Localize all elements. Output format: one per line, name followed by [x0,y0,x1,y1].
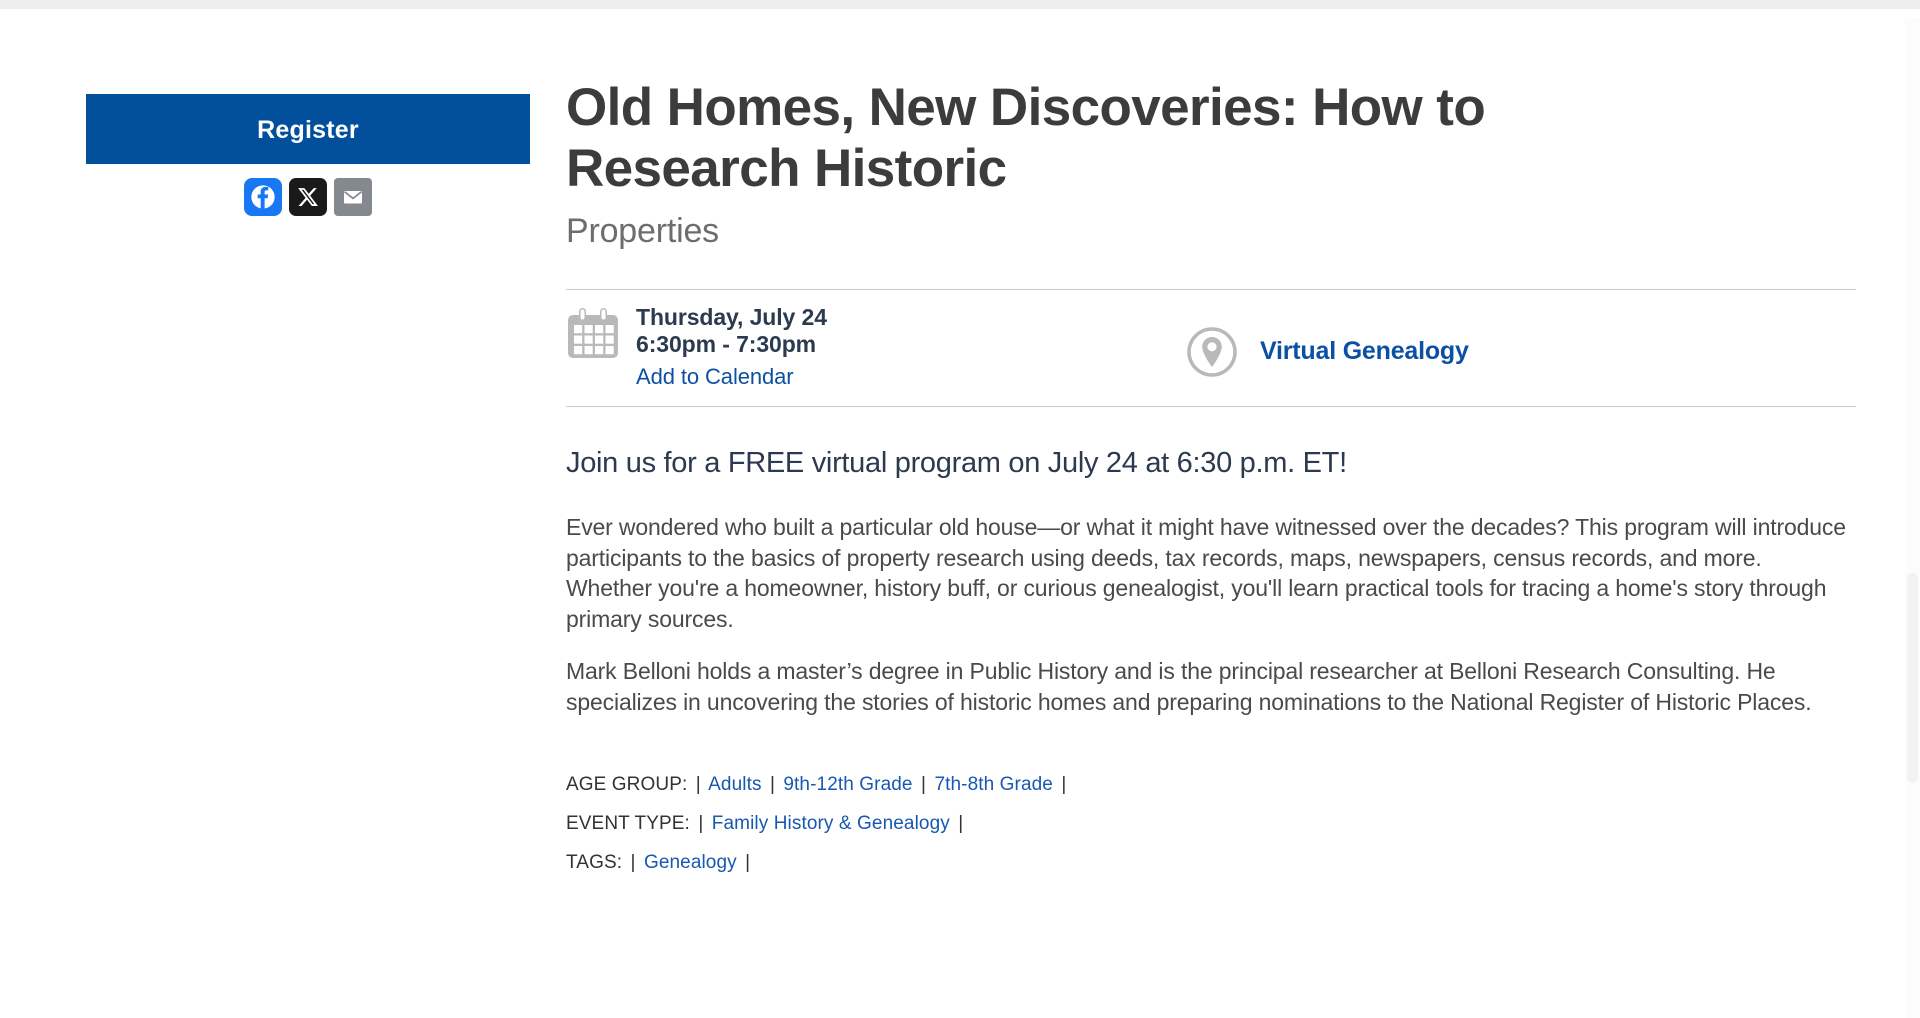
facebook-share-icon[interactable] [244,178,282,216]
share-row [86,178,530,216]
event-paragraph: Ever wondered who built a particular old… [566,512,1851,634]
event-date: Thursday, July 24 [636,304,827,331]
page-subtitle: Properties [566,212,1856,251]
meta-separator: | [1058,774,1069,795]
meta-separator: | [767,774,778,795]
x-share-icon[interactable] [289,178,327,216]
meta-row-age-group: AGE GROUP: | Adults | 9th-12th Grade | 7… [566,775,1856,794]
event-lead-text: Join us for a FREE virtual program on Ju… [566,447,1856,480]
meta-separator: | [628,852,639,873]
event-page: Register Old Homes, [0,9,1920,1009]
meta-label: EVENT TYPE: [566,813,690,834]
event-metadata: AGE GROUP: | Adults | 9th-12th Grade | 7… [566,775,1856,872]
add-to-calendar-link[interactable]: Add to Calendar [636,364,794,390]
event-paragraph: Mark Belloni holds a master’s degree in … [566,656,1851,717]
email-share-icon[interactable] [334,178,372,216]
meta-separator: | [742,852,753,873]
sidebar: Register [86,94,530,216]
event-time: 6:30pm - 7:30pm [636,331,827,358]
map-pin-icon [1186,326,1246,378]
top-chrome-strip [0,0,1920,9]
meta-link-7th-8th-grade[interactable]: 7th-8th Grade [934,774,1053,795]
event-date-text: Thursday, July 24 6:30pm - 7:30pm Add to… [626,304,827,390]
main-content: Old Homes, New Discoveries: How to Resea… [566,9,1856,892]
page-title: Old Homes, New Discoveries: How to Resea… [566,9,1636,200]
meta-link-9th-12th-grade[interactable]: 9th-12th Grade [783,774,912,795]
event-location-link[interactable]: Virtual Genealogy [1246,337,1469,366]
meta-label: TAGS: [566,852,622,873]
meta-label: AGE GROUP: [566,774,687,795]
meta-row-event-type: EVENT TYPE: | Family History & Genealogy… [566,814,1856,833]
meta-link-family-history-genealogy[interactable]: Family History & Genealogy [712,813,950,834]
meta-separator: | [693,774,704,795]
meta-link-adults[interactable]: Adults [708,774,761,795]
meta-separator: | [955,813,966,834]
register-button[interactable]: Register [86,94,530,164]
meta-link-genealogy[interactable]: Genealogy [644,852,737,873]
calendar-icon [566,304,626,360]
meta-separator: | [695,813,706,834]
page-scrollbar[interactable] [1905,18,1920,1018]
event-location-block: Virtual Genealogy [1186,304,1469,378]
event-details-bar: Thursday, July 24 6:30pm - 7:30pm Add to… [566,289,1856,407]
meta-row-tags: TAGS: | Genealogy | [566,853,1856,872]
event-description: Ever wondered who built a particular old… [566,512,1856,717]
scrollbar-thumb[interactable] [1907,573,1918,783]
event-date-block: Thursday, July 24 6:30pm - 7:30pm Add to… [566,304,1186,390]
meta-separator: | [918,774,929,795]
